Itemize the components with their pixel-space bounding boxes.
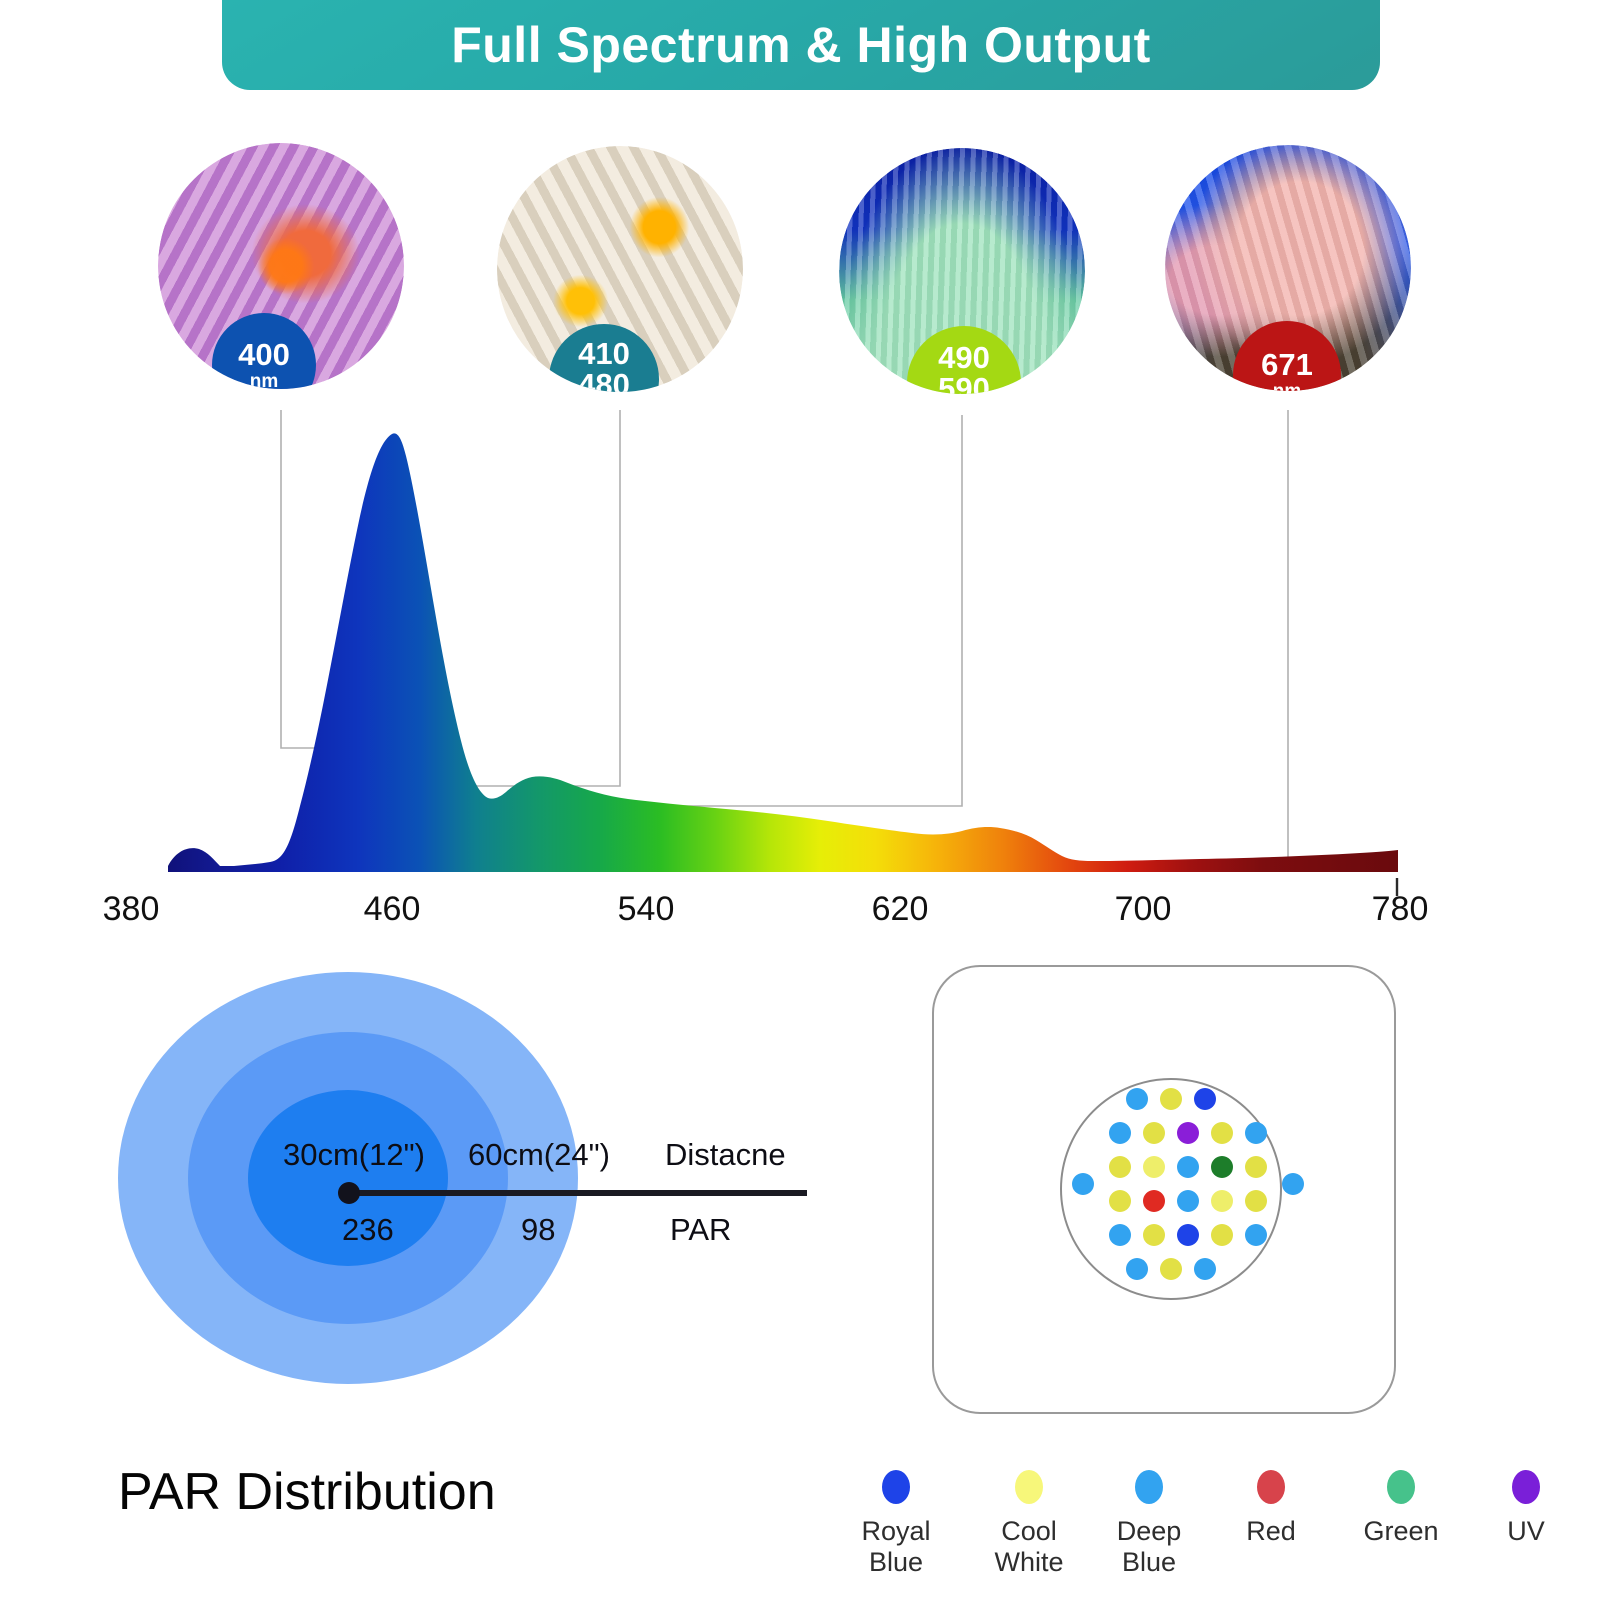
axis-tick-460: 460 <box>364 890 421 929</box>
led-dot-deep-blue <box>1109 1122 1131 1144</box>
legend-swatch-cool-white <box>1015 1470 1043 1504</box>
axis-tick-780: 780 <box>1372 890 1429 929</box>
par-axis-label: PAR <box>670 1212 731 1248</box>
par-distance-60cm: 60cm(24") <box>468 1137 610 1173</box>
par-distance-30cm: 30cm(12") <box>283 1137 425 1173</box>
led-dot-cool-white <box>1109 1156 1131 1178</box>
led-dot-deep-blue <box>1177 1156 1199 1178</box>
led-dot-deep-blue <box>1109 1224 1131 1246</box>
led-dot-cool-white <box>1160 1088 1182 1110</box>
led-dot-green <box>1211 1156 1233 1178</box>
led-dot-deep-blue <box>1177 1190 1199 1212</box>
led-legend: Royal Blue Cool White Deep Blue Red Gree… <box>836 1470 1576 1590</box>
led-dot-cool-white-pale <box>1211 1190 1233 1212</box>
legend-label-royal-blue: Royal Blue <box>836 1516 956 1578</box>
led-dot-cool-white <box>1143 1224 1165 1246</box>
led-dot-cool-white <box>1211 1122 1233 1144</box>
led-dot-cool-white <box>1143 1122 1165 1144</box>
legend-item-royal-blue: Royal Blue <box>836 1470 956 1578</box>
par-center-dot <box>338 1182 360 1204</box>
par-distance-axis-label: Distacne <box>665 1137 786 1173</box>
legend-swatch-royal-blue <box>882 1470 910 1504</box>
legend-item-uv: UV <box>1466 1470 1586 1547</box>
axis-tick-620: 620 <box>872 890 929 929</box>
led-dot-uv <box>1177 1122 1199 1144</box>
led-dot-deep-blue <box>1282 1173 1304 1195</box>
legend-label-deep-blue: Deep Blue <box>1089 1516 1209 1578</box>
par-distribution-title: PAR Distribution <box>118 1462 496 1522</box>
legend-label-uv: UV <box>1466 1516 1586 1547</box>
par-distribution-diagram: 30cm(12") 60cm(24") Distacne 236 98 PAR <box>100 960 830 1420</box>
led-lens-circle <box>1060 1078 1282 1300</box>
legend-swatch-red <box>1257 1470 1285 1504</box>
led-dot-deep-blue <box>1126 1258 1148 1280</box>
led-dot-royal-blue <box>1177 1224 1199 1246</box>
legend-swatch-deep-blue <box>1135 1470 1163 1504</box>
led-dot-cool-white <box>1211 1224 1233 1246</box>
legend-swatch-green <box>1387 1470 1415 1504</box>
led-dot-cool-white <box>1109 1190 1131 1212</box>
legend-swatch-uv <box>1512 1470 1540 1504</box>
axis-tick-540: 540 <box>618 890 675 929</box>
led-dot-cool-white <box>1245 1156 1267 1178</box>
led-dot-cool-white <box>1160 1258 1182 1280</box>
axis-tick-380: 380 <box>103 890 160 929</box>
infographic-root: Full Spectrum & High Output 400 nm 410 4… <box>0 0 1600 1600</box>
spectrum-axis: 380 460 540 620 700 780 <box>0 890 1600 940</box>
legend-label-cool-white: Cool White <box>969 1516 1089 1578</box>
legend-item-deep-blue: Deep Blue <box>1089 1470 1209 1578</box>
legend-item-red: Red <box>1211 1470 1331 1547</box>
spectrum-area <box>168 433 1398 872</box>
led-dot-deep-blue <box>1245 1122 1267 1144</box>
led-dot-cool-white-pale <box>1143 1156 1165 1178</box>
par-axis-line <box>347 1190 807 1196</box>
led-dot-cool-white <box>1245 1190 1267 1212</box>
legend-label-green: Green <box>1341 1516 1461 1547</box>
legend-label-red: Red <box>1211 1516 1331 1547</box>
led-dot-deep-blue <box>1072 1173 1094 1195</box>
legend-item-green: Green <box>1341 1470 1461 1547</box>
led-dot-red <box>1143 1190 1165 1212</box>
led-dot-deep-blue <box>1194 1258 1216 1280</box>
led-dot-deep-blue <box>1126 1088 1148 1110</box>
axis-tick-700: 700 <box>1115 890 1172 929</box>
led-dot-deep-blue <box>1245 1224 1267 1246</box>
led-dot-royal-blue <box>1194 1088 1216 1110</box>
par-value-236: 236 <box>342 1212 394 1248</box>
par-value-98: 98 <box>521 1212 555 1248</box>
legend-item-cool-white: Cool White <box>969 1470 1089 1578</box>
